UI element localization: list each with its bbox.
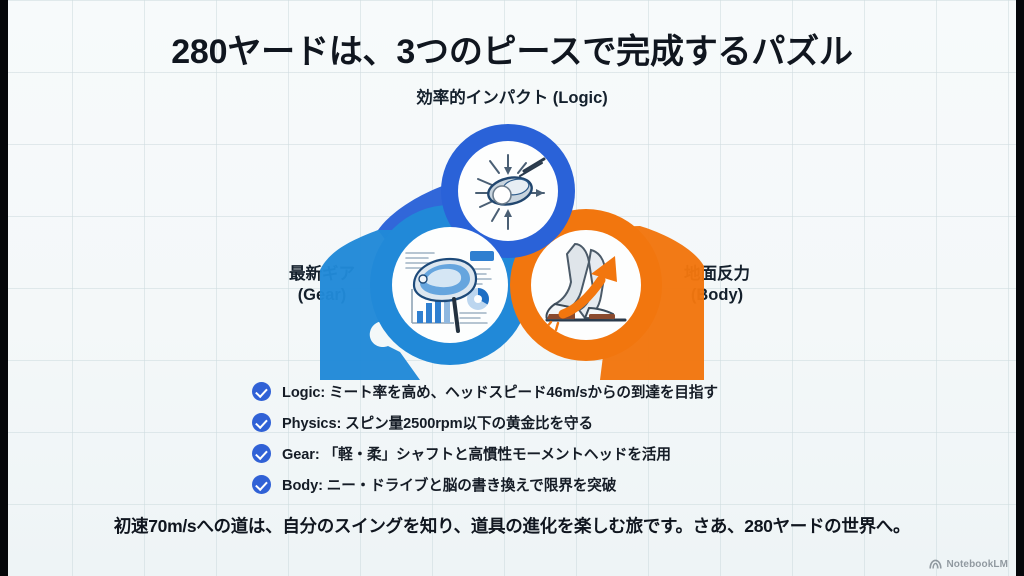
legs-ground-reaction-icon (531, 230, 641, 340)
driver-head-specs-icon (392, 227, 508, 343)
list-item: Body: ニー・ドライブと脳の書き換えで限界を突破 (252, 469, 852, 500)
right-edge-bar (1016, 0, 1024, 576)
list-item-label: Gear: 「軽・柔」シャフトと高慣性モーメントヘッドを活用 (282, 443, 671, 464)
list-item: Gear: 「軽・柔」シャフトと高慣性モーメントヘッドを活用 (252, 438, 852, 469)
footer-message: 初速70m/sへの道は、自分のスイングを知り、道具の進化を楽しむ旅です。さあ、2… (0, 513, 1024, 538)
golf-club-impact-icon (458, 141, 558, 241)
watermark: NotebookLM (929, 559, 1008, 570)
page-title: 280ヤードは、3つのピースで完成するパズル (0, 24, 1024, 73)
list-item-label: Body: ニー・ドライブと脳の書き換えで限界を突破 (282, 474, 616, 495)
check-circle-icon (252, 382, 271, 401)
list-item-label: Logic: ミート率を高め、ヘッドスピード46m/sからの到達を目指す (282, 381, 718, 402)
list-item: Physics: スピン量2500rpm以下の黄金比を守る (252, 407, 852, 438)
gear-icon-well (392, 227, 508, 343)
watermark-label: NotebookLM (946, 559, 1008, 570)
notebooklm-logo-icon (929, 559, 942, 570)
body-icon-well (531, 230, 641, 340)
slide-canvas: 280ヤードは、3つのピースで完成するパズル (0, 0, 1024, 576)
bullet-list: Logic: ミート率を高め、ヘッドスピード46m/sからの到達を目指す Phy… (252, 376, 852, 500)
list-item: Logic: ミート率を高め、ヘッドスピード46m/sからの到達を目指す (252, 376, 852, 407)
check-circle-icon (252, 444, 271, 463)
list-item-label: Physics: スピン量2500rpm以下の黄金比を守る (282, 412, 593, 433)
check-circle-icon (252, 475, 271, 494)
check-circle-icon (252, 413, 271, 432)
logic-icon-well (458, 141, 558, 241)
left-edge-bar (0, 0, 8, 576)
